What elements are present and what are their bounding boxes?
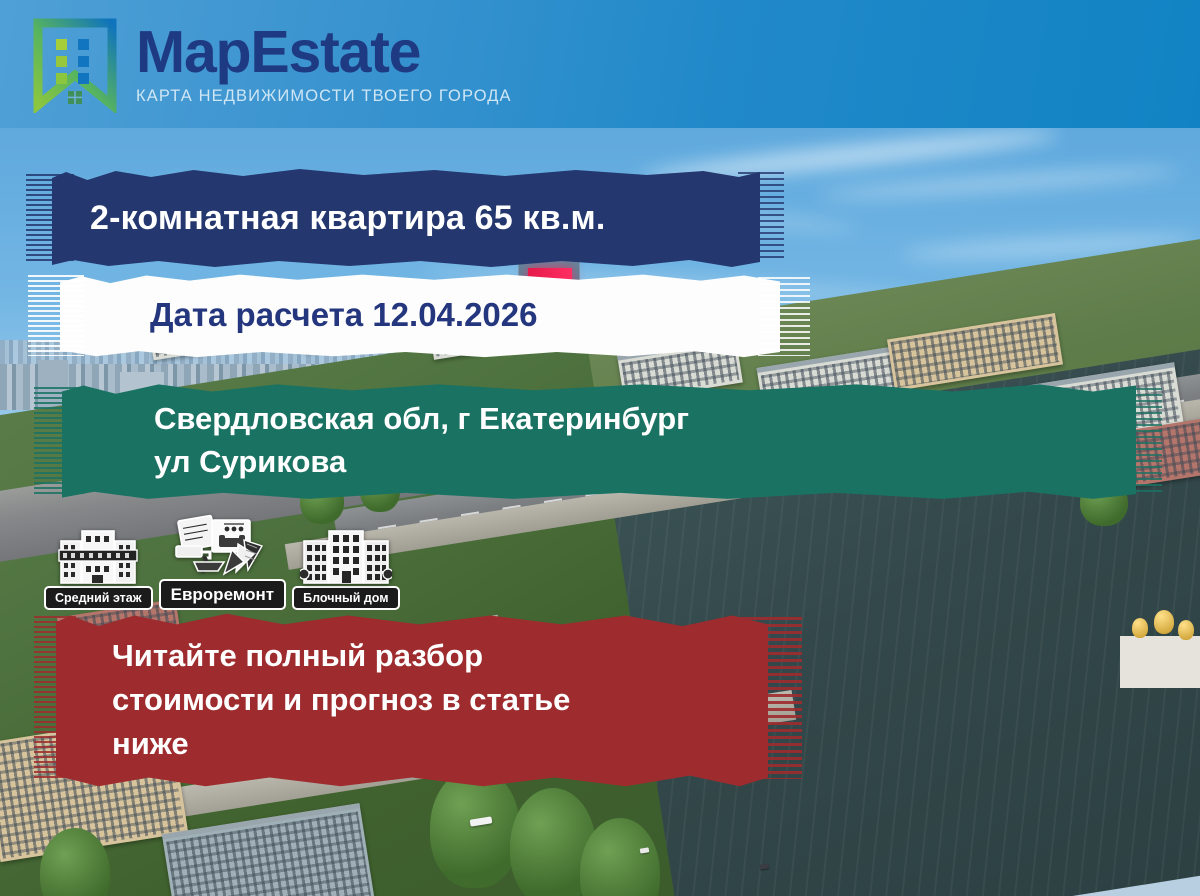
cloud xyxy=(820,163,1180,202)
map-bookmark-building-icon xyxy=(30,15,120,113)
renovation-tools-icon xyxy=(172,510,272,585)
mid-rise-building-icon xyxy=(58,525,138,592)
feature-badges: Средний этаж xyxy=(44,510,400,610)
cta-text: Читайте полный разбор стоимости и прогно… xyxy=(56,634,768,766)
brand-logo[interactable]: MapEstate КАРТА НЕДВИЖИМОСТИ ТВОЕГО ГОРО… xyxy=(30,15,512,113)
cta-line-1: Читайте полный разбор xyxy=(112,634,768,678)
address-line-2: ул Сурикова xyxy=(154,441,1136,484)
calculation-date-text: Дата расчета 12.04.2026 xyxy=(60,296,780,334)
property-title-banner: 2-комнатная квартира 65 кв.м. xyxy=(52,168,760,268)
golden-dome xyxy=(1178,620,1194,640)
page-header: MapEstate КАРТА НЕДВИЖИМОСТИ ТВОЕГО ГОРО… xyxy=(0,0,1200,128)
calculation-date-banner: Дата расчета 12.04.2026 xyxy=(60,272,780,358)
golden-dome xyxy=(1154,610,1174,634)
block-apartment-building-icon xyxy=(300,523,392,592)
address-line-1: Свердловская обл, г Екатеринбург xyxy=(154,398,1136,441)
property-title-text: 2-комнатная квартира 65 кв.м. xyxy=(52,199,760,238)
golden-dome xyxy=(1132,618,1148,638)
property-promo-poster: MapEstate КАРТА НЕДВИЖИМОСТИ ТВОЕГО ГОРО… xyxy=(0,0,1200,896)
cta-line-3: ниже xyxy=(112,722,768,766)
brand-name: MapEstate xyxy=(136,23,512,82)
brand-tagline: КАРТА НЕДВИЖИМОСТИ ТВОЕГО ГОРОДА xyxy=(136,87,512,106)
badge-mid-floor[interactable]: Средний этаж xyxy=(44,525,153,611)
badge-block-house[interactable]: Блочный дом xyxy=(292,523,399,611)
address-banner: Свердловская обл, г Екатеринбург ул Сури… xyxy=(62,382,1136,500)
address-text: Свердловская обл, г Екатеринбург ул Сури… xyxy=(62,398,1136,484)
orthodox-church xyxy=(1120,636,1200,688)
cta-banner: Читайте полный разбор стоимости и прогно… xyxy=(56,612,768,788)
badge-renovation[interactable]: Евроремонт xyxy=(159,510,287,610)
cta-line-2: стоимости и прогноз в статье xyxy=(112,678,768,722)
